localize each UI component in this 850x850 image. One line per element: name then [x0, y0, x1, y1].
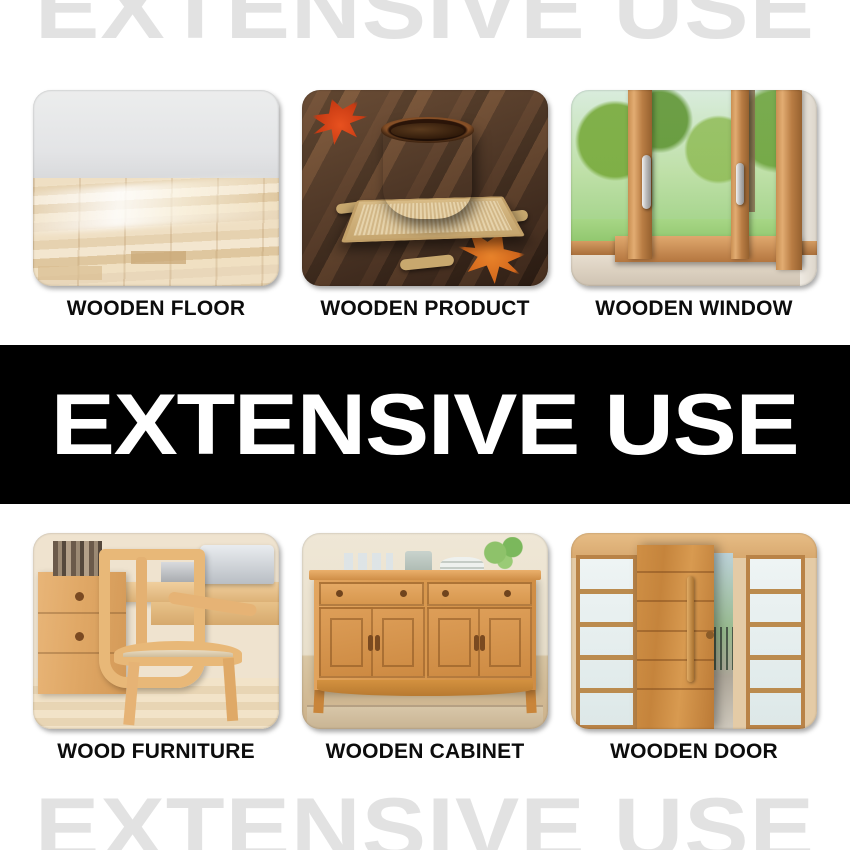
- thumbnail-wooden-cabinet[interactable]: [302, 533, 548, 729]
- wooden-door-image: [571, 533, 817, 729]
- caption-wooden-cabinet: WOODEN CABINET: [326, 740, 525, 764]
- tile-wooden-cabinet[interactable]: WOODEN CABINET: [302, 533, 548, 764]
- wooden-cabinet-image: [302, 533, 548, 729]
- tile-wooden-product[interactable]: WOODEN PRODUCT: [302, 90, 548, 321]
- banner-title: EXTENSIVE USE: [51, 382, 799, 468]
- wood-furniture-image: [33, 533, 279, 729]
- tile-wooden-door[interactable]: WOODEN DOOR: [571, 533, 817, 764]
- watermark-bottom: EXTENSIVE USE: [0, 786, 850, 850]
- wooden-floor-image: [33, 90, 279, 286]
- wooden-window-image: [571, 90, 817, 286]
- tile-wood-furniture[interactable]: WOOD FURNITURE: [33, 533, 279, 764]
- tile-wooden-floor[interactable]: WOODEN FLOOR: [33, 90, 279, 321]
- thumbnail-wooden-floor[interactable]: [33, 90, 279, 286]
- tile-wooden-window[interactable]: WOODEN WINDOW: [571, 90, 817, 321]
- tile-row-bottom: WOOD FURNITURE: [0, 533, 850, 764]
- product-feature-graphic: EXTENSIVE USE WOODEN FLOOR: [0, 0, 850, 850]
- thumbnail-wood-furniture[interactable]: [33, 533, 279, 729]
- banner-extensive-use: EXTENSIVE USE: [0, 345, 850, 504]
- caption-wooden-product: WOODEN PRODUCT: [320, 297, 529, 321]
- caption-wooden-floor: WOODEN FLOOR: [67, 297, 246, 321]
- caption-wood-furniture: WOOD FURNITURE: [57, 740, 255, 764]
- wooden-product-image: [302, 90, 548, 286]
- thumbnail-wooden-product[interactable]: [302, 90, 548, 286]
- caption-wooden-door: WOODEN DOOR: [610, 740, 778, 764]
- thumbnail-wooden-door[interactable]: [571, 533, 817, 729]
- watermark-top: EXTENSIVE USE: [0, 0, 850, 52]
- thumbnail-wooden-window[interactable]: [571, 90, 817, 286]
- tile-row-top: WOODEN FLOOR WOODEN PRODUCT: [0, 90, 850, 321]
- caption-wooden-window: WOODEN WINDOW: [595, 297, 792, 321]
